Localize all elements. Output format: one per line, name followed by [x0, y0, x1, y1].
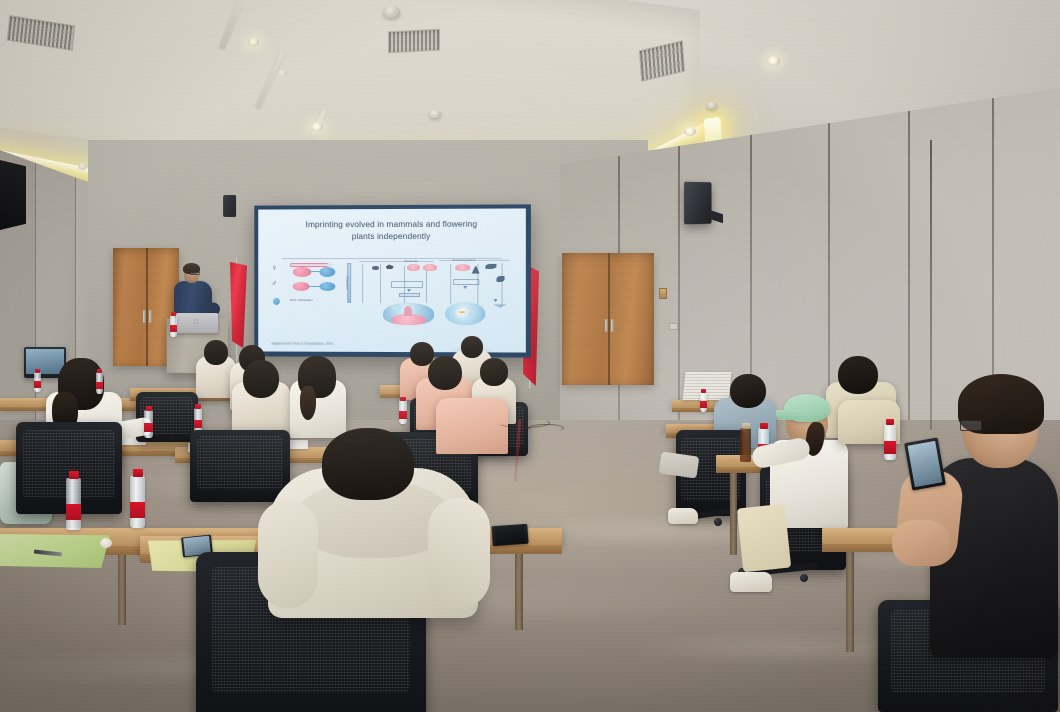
axis-label-imprinting: Imprinting [345, 276, 349, 290]
water-bottle[interactable] [884, 424, 896, 460]
spot-light-icon [248, 38, 259, 46]
glasses [960, 420, 982, 431]
female-symbol-icon: ♀ [271, 265, 277, 273]
shoe [730, 572, 772, 592]
spot-light-icon [78, 163, 87, 170]
projection-screen-frame: Imprinting evolved in mammals and flower… [254, 204, 531, 357]
right-door[interactable] [562, 253, 654, 385]
panel-label-mammals: Mammals [404, 259, 417, 263]
attendee-arm [428, 498, 490, 608]
desk-leg [846, 552, 854, 652]
spot-light-icon [684, 127, 696, 136]
presenter-glasses [190, 272, 200, 275]
methylation-label: DNA methylation [290, 298, 313, 302]
water-bottle[interactable] [66, 478, 81, 530]
water-bottle[interactable] [170, 315, 177, 337]
water-bottle[interactable] [130, 476, 145, 528]
attendee-head [480, 358, 508, 386]
spot-light-icon [311, 123, 323, 131]
water-bottle[interactable] [96, 372, 103, 394]
shoe [668, 508, 698, 524]
spot-light-icon [767, 56, 780, 66]
wall-cable [930, 140, 932, 430]
chair[interactable] [190, 430, 290, 502]
attendee-ponytail [300, 386, 316, 420]
water-bottle[interactable] [399, 400, 407, 424]
spot-light-icon [277, 70, 287, 76]
wall-speaker-left [223, 195, 236, 217]
male-symbol-icon: ♂ [271, 280, 277, 288]
attendee-head [243, 360, 279, 398]
cola-bottle[interactable] [740, 428, 751, 462]
water-bottle[interactable] [34, 372, 41, 392]
slide-caption: Adapted from Pires & Grossniklaus, 2014 [271, 342, 333, 346]
attendee-leg [737, 504, 791, 573]
chair-caster [714, 518, 722, 526]
attendee-head-foreground [322, 428, 414, 500]
attendee-hand [892, 520, 950, 566]
water-bottle[interactable] [144, 410, 153, 438]
slide-title: Imprinting evolved in mammals and flower… [274, 219, 510, 243]
materials-stack[interactable] [683, 372, 732, 400]
mint-cap [784, 394, 830, 422]
desk-leg [118, 555, 126, 625]
apple-logo-icon:  [193, 319, 199, 326]
floor-cable [528, 424, 564, 432]
attendee-head [461, 336, 483, 358]
air-vent-icon [388, 29, 440, 54]
wall-switch[interactable] [669, 323, 678, 330]
wall-speaker-right [684, 182, 711, 225]
door-sign [659, 288, 667, 299]
attendee-torso [436, 398, 508, 454]
panel-label-plants: Flowering plants [453, 258, 476, 262]
attendee-head [838, 356, 878, 394]
smoke-detector-icon [383, 6, 400, 18]
smoke-detector-icon [707, 102, 717, 109]
smoke-detector-icon [429, 110, 441, 118]
seminar-room-photo: Imprinting evolved in mammals and flower… [0, 0, 1060, 712]
water-bottle[interactable] [700, 392, 707, 412]
wall-monitor-far-left [0, 160, 26, 230]
attendee-head [204, 340, 228, 365]
eraser[interactable] [100, 538, 112, 548]
attendee-head [730, 374, 766, 408]
chair-caster [800, 574, 808, 582]
desk-leg [515, 554, 523, 630]
slide-diagram: ♀ ♂ DNA methylation Imprinting [258, 256, 526, 340]
attendee-arm [258, 500, 318, 608]
projection-screen: Imprinting evolved in mammals and flower… [258, 208, 526, 352]
attendee-head [428, 356, 462, 390]
methylation-dot-icon [273, 298, 280, 305]
phone[interactable] [491, 524, 528, 546]
desk-leg [730, 473, 737, 555]
